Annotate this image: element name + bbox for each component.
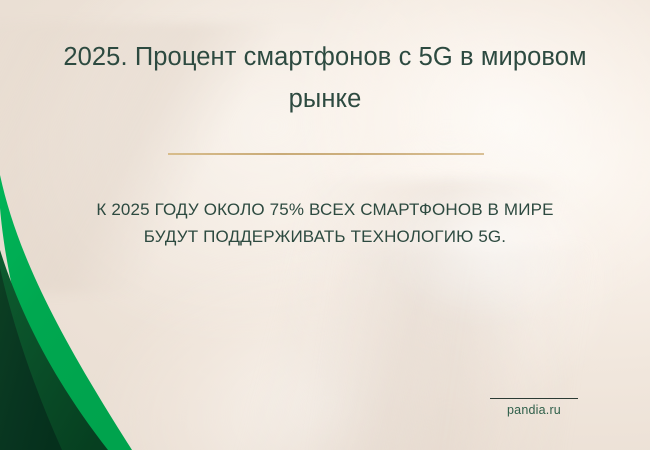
- watermark: pandia.ru: [470, 398, 598, 418]
- page-title: 2025. Процент смартфонов с 5G в мировом …: [60, 36, 590, 120]
- page-subtitle-line-1: К 2025 ГОДУ ОКОЛО 75% ВСЕХ СМАРТФОНОВ В …: [60, 196, 590, 223]
- gold-divider: [168, 153, 484, 155]
- slide-canvas: 2025. Процент смартфонов с 5G в мировом …: [0, 0, 650, 450]
- page-title-line-1: 2025. Процент смартфонов с 5G в мировом: [60, 36, 590, 78]
- page-subtitle-line-2: БУДУТ ПОДДЕРЖИВАТЬ ТЕХНОЛОГИЮ 5G.: [60, 223, 590, 250]
- page-subtitle: К 2025 ГОДУ ОКОЛО 75% ВСЕХ СМАРТФОНОВ В …: [60, 196, 590, 250]
- watermark-rule: [490, 398, 578, 399]
- page-title-line-2: рынке: [60, 78, 590, 120]
- watermark-label: pandia.ru: [470, 402, 598, 418]
